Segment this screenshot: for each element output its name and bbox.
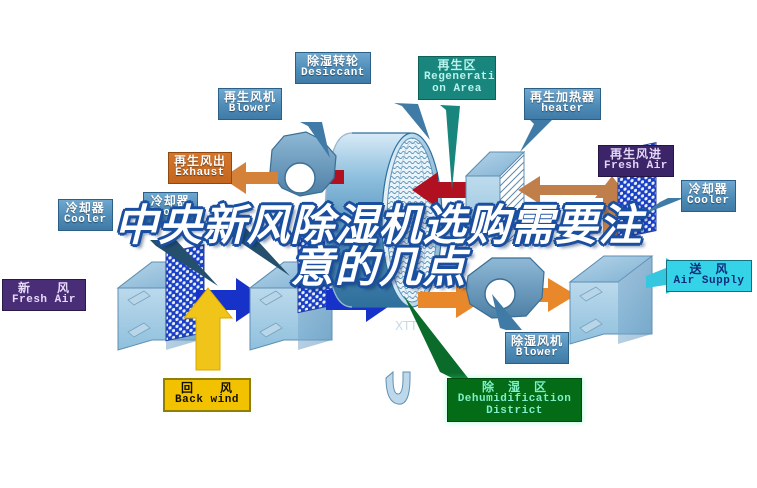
label-en: Regenerati on Area: [424, 72, 490, 96]
label-regeneration-area[interactable]: 再生区 Regenerati on Area: [418, 56, 496, 100]
label-dehumid-blower[interactable]: 除湿风机 Blower: [505, 332, 569, 364]
label-cn: 回 风: [170, 382, 244, 395]
label-dehumidification-district[interactable]: 除 湿 区 Dehumidification District: [447, 378, 582, 422]
label-en: Desiccant: [301, 68, 365, 80]
label-back-wind[interactable]: 回 风 Back wind: [163, 378, 251, 412]
label-regen-exhaust[interactable]: 再生风出 Exhaust: [168, 152, 232, 184]
label-desiccant-rotor[interactable]: 除湿转轮 Desiccant: [295, 52, 371, 84]
label-en: Dehumidification District: [453, 394, 576, 418]
label-cn: 冷却器: [687, 183, 730, 196]
label-cn: 除湿风机: [511, 335, 563, 348]
label-en: Exhaust: [174, 168, 226, 180]
overlay-headline: 中央新风除湿机选购需要注 意的几点: [0, 206, 757, 289]
label-en: Fresh Air: [604, 161, 668, 173]
label-regen-fresh-air-in[interactable]: 再生风进 Fresh Air: [598, 145, 674, 177]
label-en: Blower: [511, 348, 563, 360]
label-regen-blower[interactable]: 再生风机 Blower: [218, 88, 282, 120]
svg-text:XTT: XTT: [395, 319, 418, 333]
label-cn: 再生加热器: [530, 91, 595, 104]
diagram-canvas: XTT: [0, 0, 757, 488]
label-en: Fresh Air: [8, 295, 80, 307]
headline-line-2: 意的几点: [0, 248, 757, 290]
heater-feed-arrow: [518, 176, 610, 204]
label-regen-heater[interactable]: 再生加热器 heater: [524, 88, 601, 120]
label-en: Back wind: [170, 395, 244, 407]
label-cn: 再生风进: [604, 148, 668, 161]
label-cn: 再生风机: [224, 91, 276, 104]
label-cn: 除 湿 区: [453, 381, 576, 394]
label-en: heater: [530, 104, 595, 116]
label-cn: 再生风出: [174, 155, 226, 168]
label-cn: 再生区: [424, 59, 490, 72]
label-en: Blower: [224, 104, 276, 116]
label-cn: 除湿转轮: [301, 55, 365, 68]
